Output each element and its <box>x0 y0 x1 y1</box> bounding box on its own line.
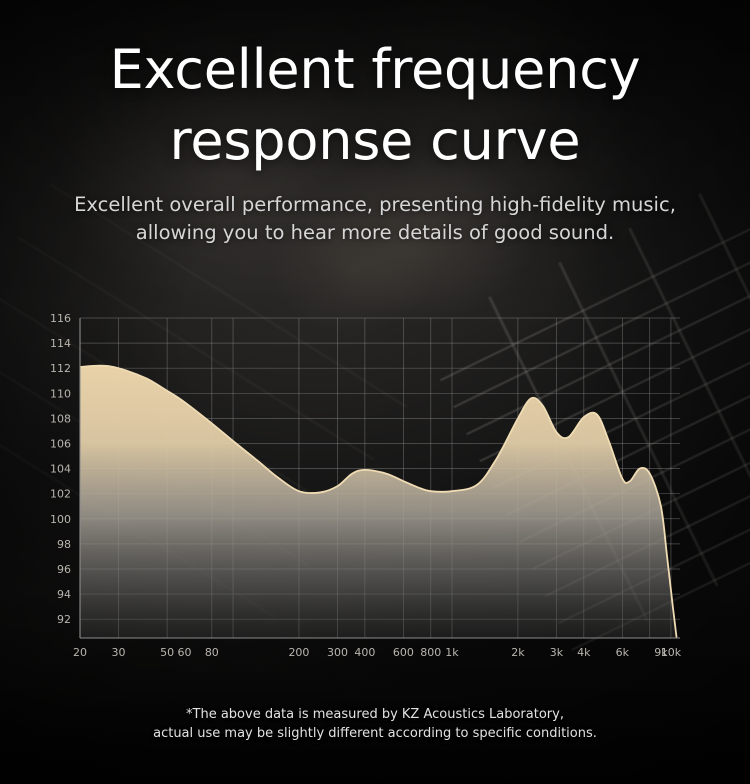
page-title-line-2: response curve <box>40 105 710 176</box>
chart-footnote-line-1: *The above data is measured by KZ Acoust… <box>0 706 750 725</box>
header: Excellent frequency response curve Excel… <box>0 34 750 247</box>
promo-page: Excellent frequency response curve Excel… <box>0 0 750 784</box>
chart-svg: 11611411211010810610410210098969492 2030… <box>0 300 750 665</box>
y-axis-tick-label: 104 <box>50 463 71 476</box>
y-axis-tick-label: 100 <box>50 513 71 526</box>
x-axis-tick-label: 20 <box>73 646 87 659</box>
x-axis-tick-label: 800 <box>420 646 441 659</box>
x-axis-tick-label: 80 <box>205 646 219 659</box>
y-axis-tick-label: 92 <box>57 613 71 626</box>
y-axis-tick-label: 96 <box>57 563 71 576</box>
chart-x-tick-labels: 20305060802003004006008001k2k3k4k6k9k10k <box>73 646 682 659</box>
x-axis-tick-label: 1k <box>445 646 459 659</box>
x-axis-tick-label: 4k <box>577 646 591 659</box>
y-axis-tick-label: 116 <box>50 312 71 325</box>
chart-area-fill <box>80 366 676 638</box>
page-title-line-1: Excellent frequency <box>40 34 710 105</box>
x-axis-tick-label: 10k <box>661 646 682 659</box>
page-subtitle: Excellent overall performance, presentin… <box>0 191 750 248</box>
x-axis-tick-label: 2k <box>511 646 525 659</box>
x-axis-tick-label: 50 <box>160 646 174 659</box>
y-axis-tick-label: 98 <box>57 538 71 551</box>
x-axis-tick-label: 600 <box>393 646 414 659</box>
x-axis-tick-label: 300 <box>327 646 348 659</box>
page-subtitle-line-2: allowing you to hear more details of goo… <box>42 219 708 247</box>
x-axis-tick-label: 200 <box>288 646 309 659</box>
chart-footnote: *The above data is measured by KZ Acoust… <box>0 706 750 744</box>
chart-y-tick-labels: 11611411211010810610410210098969492 <box>50 312 71 626</box>
y-axis-tick-label: 110 <box>50 387 71 400</box>
y-axis-tick-label: 112 <box>50 362 71 375</box>
page-subtitle-line-1: Excellent overall performance, presentin… <box>42 191 708 219</box>
x-axis-tick-label: 30 <box>112 646 126 659</box>
y-axis-tick-label: 102 <box>50 488 71 501</box>
y-axis-tick-label: 106 <box>50 437 71 450</box>
y-axis-tick-label: 108 <box>50 412 71 425</box>
y-axis-tick-label: 114 <box>50 337 71 350</box>
x-axis-tick-label: 60 <box>177 646 191 659</box>
x-axis-tick-label: 6k <box>616 646 630 659</box>
chart-footnote-line-2: actual use may be slightly different acc… <box>0 725 750 744</box>
y-axis-tick-label: 94 <box>57 588 71 601</box>
page-title: Excellent frequency response curve <box>0 34 750 177</box>
x-axis-tick-label: 400 <box>354 646 375 659</box>
frequency-response-chart: 11611411211010810610410210098969492 2030… <box>0 300 750 665</box>
x-axis-tick-label: 3k <box>550 646 564 659</box>
